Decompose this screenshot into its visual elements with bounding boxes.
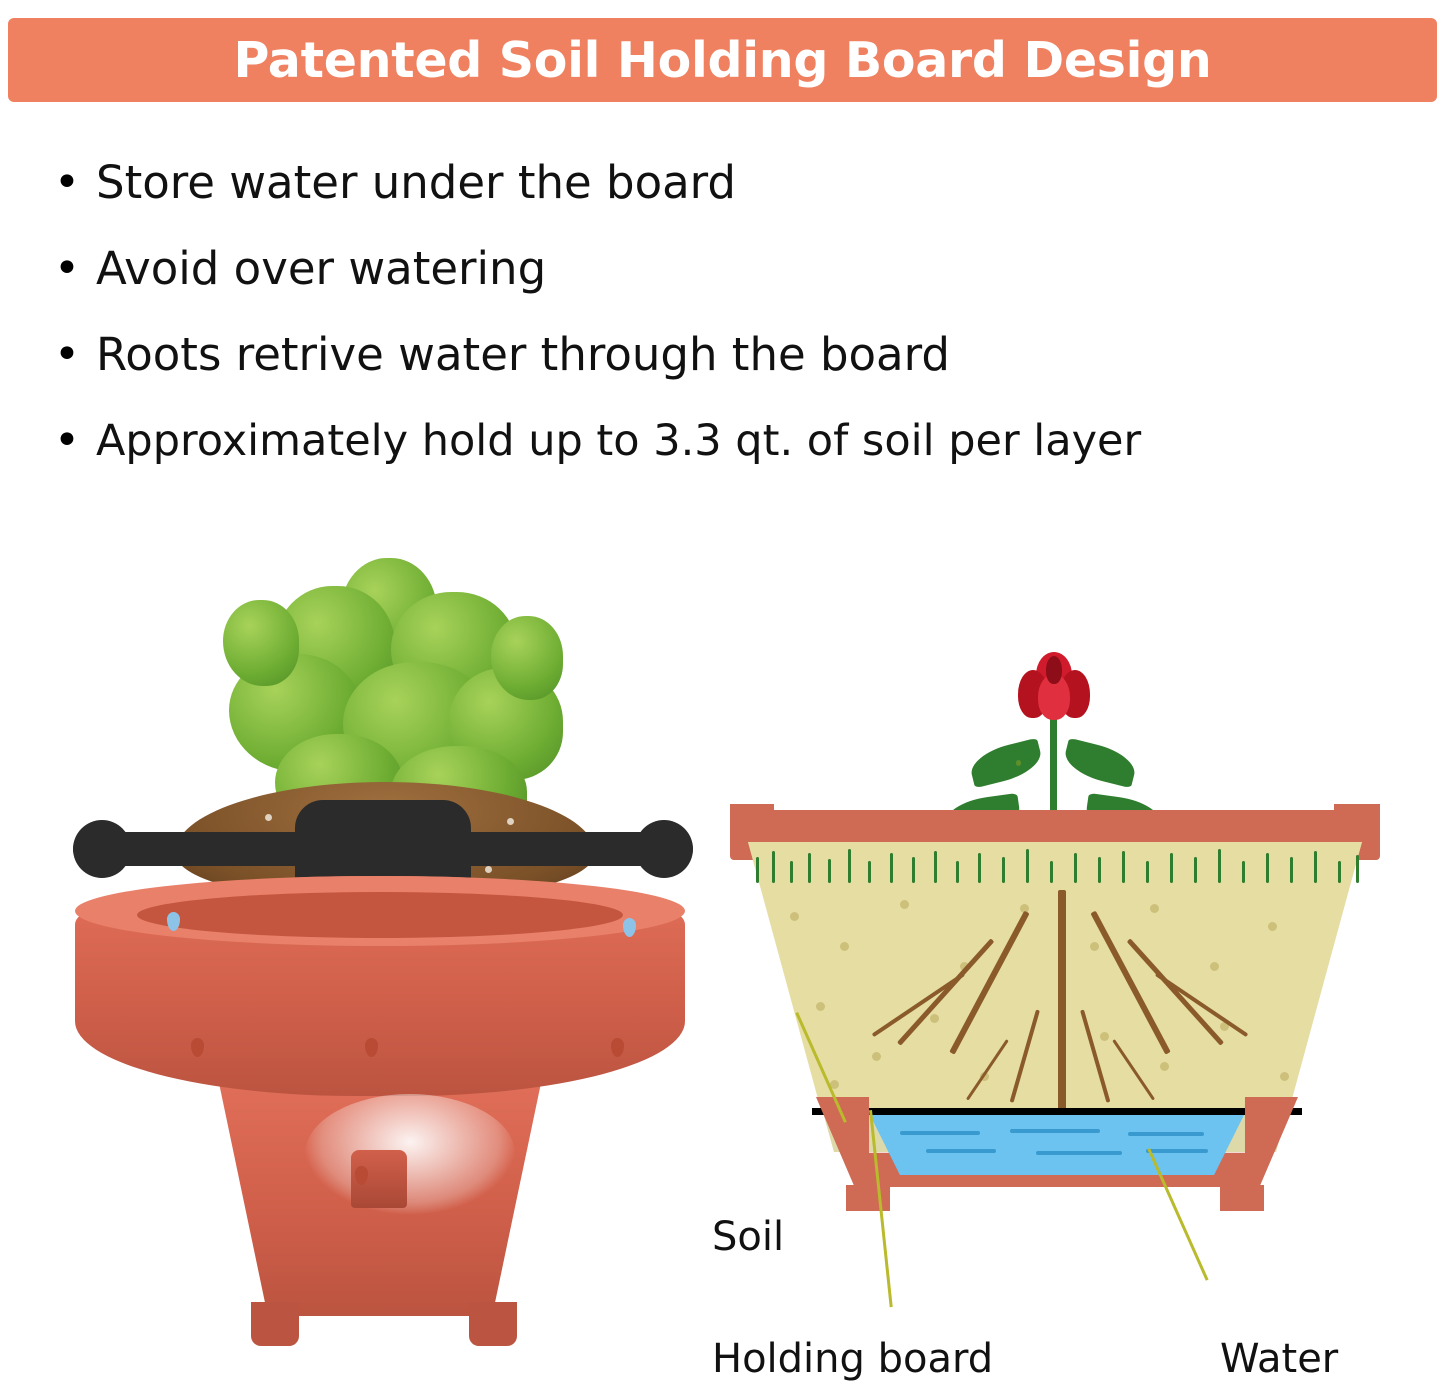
list-item: • Store water under the board xyxy=(0,150,1445,216)
label-soil: Soil xyxy=(712,1214,784,1260)
bullet-text: Store water under the board xyxy=(96,150,736,216)
grass-band xyxy=(746,847,1366,883)
list-item: • Approximately hold up to 3.3 qt. of so… xyxy=(0,408,1445,474)
bullet-text: Roots retrive water through the board xyxy=(96,322,950,388)
label-water: Water xyxy=(1220,1336,1338,1382)
bullet-marker-icon: • xyxy=(38,408,96,474)
plant-roots xyxy=(950,890,1180,1120)
rose-leaf xyxy=(1061,738,1139,788)
cross-section-diagram xyxy=(720,642,1400,1382)
bullet-marker-icon: • xyxy=(38,236,96,302)
rose-leaf xyxy=(967,738,1045,788)
stackable-planter-photo xyxy=(55,546,715,1376)
water-reservoir xyxy=(870,1115,1244,1175)
feature-bullet-list: • Store water under the board • Avoid ov… xyxy=(0,150,1445,494)
water-splash xyxy=(305,1094,515,1214)
bullet-text: Avoid over watering xyxy=(96,236,546,302)
bullet-marker-icon: • xyxy=(38,322,96,388)
rose-flower-icon xyxy=(1016,652,1092,728)
list-item: • Avoid over watering xyxy=(0,236,1445,302)
bullet-marker-icon: • xyxy=(38,150,96,216)
holding-board-line xyxy=(812,1108,1302,1115)
header-banner: Patented Soil Holding Board Design xyxy=(8,18,1437,102)
page-title: Patented Soil Holding Board Design xyxy=(234,32,1212,89)
planter-inner-basin xyxy=(137,892,623,938)
label-holding-board: Holding board xyxy=(712,1336,993,1382)
figures-area: Soil Holding board Water xyxy=(0,546,1445,1388)
bullet-text: Approximately hold up to 3.3 qt. of soil… xyxy=(96,408,1141,474)
list-item: • Roots retrive water through the board xyxy=(0,322,1445,388)
